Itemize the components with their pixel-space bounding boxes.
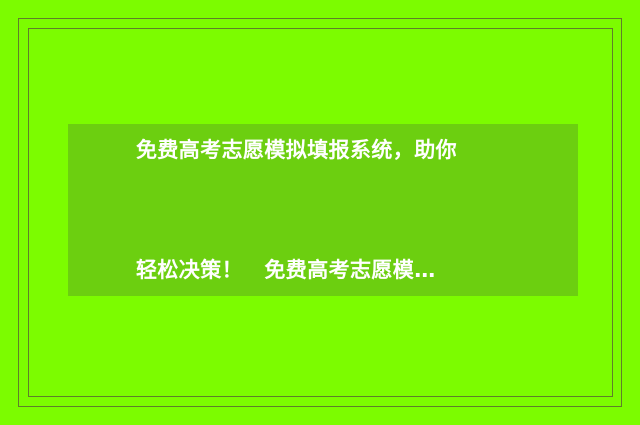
- headline-text: 免费高考志愿模拟填报系统，助你 轻松决策！ 免费高考志愿模…: [136, 50, 457, 370]
- headline-line-1: 免费高考志愿模拟填报系统，助你: [136, 130, 457, 170]
- headline-line-2: 轻松决策！ 免费高考志愿模…: [136, 250, 457, 290]
- headline-panel: 免费高考志愿模拟填报系统，助你 轻松决策！ 免费高考志愿模…: [68, 124, 578, 296]
- page-canvas: 免费高考志愿模拟填报系统，助你 轻松决策！ 免费高考志愿模…: [0, 0, 640, 425]
